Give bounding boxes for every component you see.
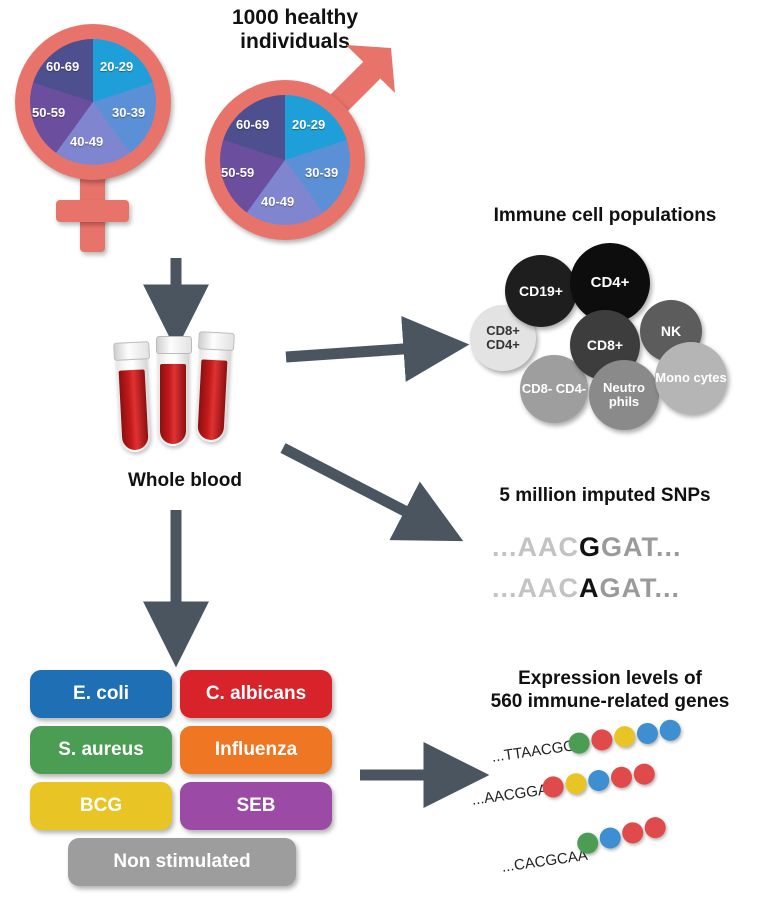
blood-tube	[115, 341, 151, 452]
whole-blood-label: Whole blood	[85, 470, 285, 492]
female-gender-symbol: 20-29 30-39 40-49 50-59 60-69	[8, 12, 178, 252]
snp-prefix: ...AAC	[492, 532, 579, 562]
expression-sequence: ...CACGCAA	[501, 847, 589, 876]
expression-title-line-2: 560 immune-related genes	[455, 691, 765, 714]
male-age-label-40-49: 40-49	[261, 194, 294, 209]
male-age-label-50-59: 50-59	[221, 165, 254, 180]
snp-prefix: ...AAC	[492, 573, 579, 603]
expression-sequence: ...TTAACGG	[491, 737, 576, 766]
stimulus-label: S. aureus	[58, 739, 144, 761]
tube-cap	[156, 336, 192, 354]
stimulus-seb[interactable]: SEB	[180, 782, 332, 830]
immune-cell-label: CD4+	[591, 275, 630, 291]
tube-blood	[197, 359, 227, 440]
female-age-label-60-69: 60-69	[46, 59, 79, 74]
stimulus-c-albicans[interactable]: C. albicans	[180, 670, 332, 718]
stimulus-e-coli[interactable]: E. coli	[30, 670, 172, 718]
expression-bead	[610, 765, 634, 789]
stimulus-influenza[interactable]: Influenza	[180, 726, 332, 774]
expression-bead	[636, 722, 660, 746]
snp-variant-base: G	[579, 532, 601, 562]
stimulus-non-stimulated[interactable]: Non stimulated	[68, 838, 296, 886]
male-gender-symbol: 20-29 30-39 40-49 50-59 60-69	[195, 45, 415, 260]
stimulus-label: E. coli	[73, 683, 129, 705]
stimulus-label: Influenza	[215, 739, 297, 761]
arrow-blood-to-immune	[286, 347, 432, 357]
expression-bead	[643, 816, 667, 840]
male-age-label-60-69: 60-69	[236, 117, 269, 132]
expression-bead	[632, 762, 656, 786]
stimulus-label: C. albicans	[206, 683, 306, 705]
snp-sequence-row: ...AACAGAT...	[492, 573, 680, 604]
stimulus-bcg[interactable]: BCG	[30, 782, 172, 830]
expression-bead	[613, 725, 637, 749]
arrow-blood-to-snps	[283, 448, 430, 524]
stimulus-label: SEB	[236, 795, 275, 817]
title-line-1: 1000 healthy	[170, 6, 420, 30]
immune-cell-monocytes: Mono cytes	[655, 342, 727, 414]
immune-cell-label: CD8+	[587, 338, 623, 353]
immune-cell-cd19: CD19+	[505, 255, 577, 327]
expression-bead	[621, 821, 645, 845]
immune-populations-title: Immune cell populations	[455, 205, 755, 227]
immune-cell-label: NK	[661, 324, 681, 339]
tube-blood	[119, 369, 149, 450]
male-age-label-20-29: 20-29	[292, 117, 325, 132]
female-age-label-50-59: 50-59	[32, 105, 65, 120]
expression-title-line-1: Expression levels of	[455, 668, 765, 691]
expression-title: Expression levels of 560 immune-related …	[455, 668, 765, 714]
tube-cap	[198, 331, 235, 351]
expression-bead	[590, 728, 614, 752]
snp-suffix: GAT...	[601, 532, 682, 562]
expression-bead	[564, 772, 588, 796]
immune-cell-label: CD8+ CD4+	[470, 324, 536, 351]
tube-blood	[160, 364, 186, 444]
expression-bead	[587, 769, 611, 793]
expression-bead	[658, 718, 682, 742]
female-symbol-stem-cross	[56, 200, 129, 222]
blood-tube	[158, 336, 188, 446]
immune-cell-neutrophils: Neutro phils	[589, 360, 659, 430]
immune-cell-label: Mono cytes	[655, 371, 727, 385]
tube-cap	[113, 341, 150, 361]
stimuli-panel: E. coli C. albicans S. aureus Influenza …	[30, 670, 330, 885]
expression-bead	[598, 826, 622, 850]
snp-suffix: GAT...	[600, 573, 681, 603]
female-age-label-40-49: 40-49	[70, 134, 103, 149]
immune-cell-label: Neutro phils	[589, 381, 659, 408]
immune-cell-label: CD8- CD4-	[522, 382, 586, 396]
stimulus-label: Non stimulated	[113, 851, 250, 873]
female-age-label-20-29: 20-29	[100, 59, 133, 74]
stimulus-label: BCG	[80, 795, 122, 817]
male-age-label-30-39: 30-39	[305, 165, 338, 180]
snp-variant-base: A	[579, 573, 600, 603]
snp-title: 5 million imputed SNPs	[455, 485, 755, 507]
immune-cell-label: CD19+	[519, 284, 563, 299]
blood-tubes	[110, 330, 260, 455]
female-age-label-30-39: 30-39	[112, 105, 145, 120]
blood-tube	[195, 331, 231, 442]
stimulus-s-aureus[interactable]: S. aureus	[30, 726, 172, 774]
snp-sequence-row: ...AACGGAT...	[492, 532, 682, 563]
